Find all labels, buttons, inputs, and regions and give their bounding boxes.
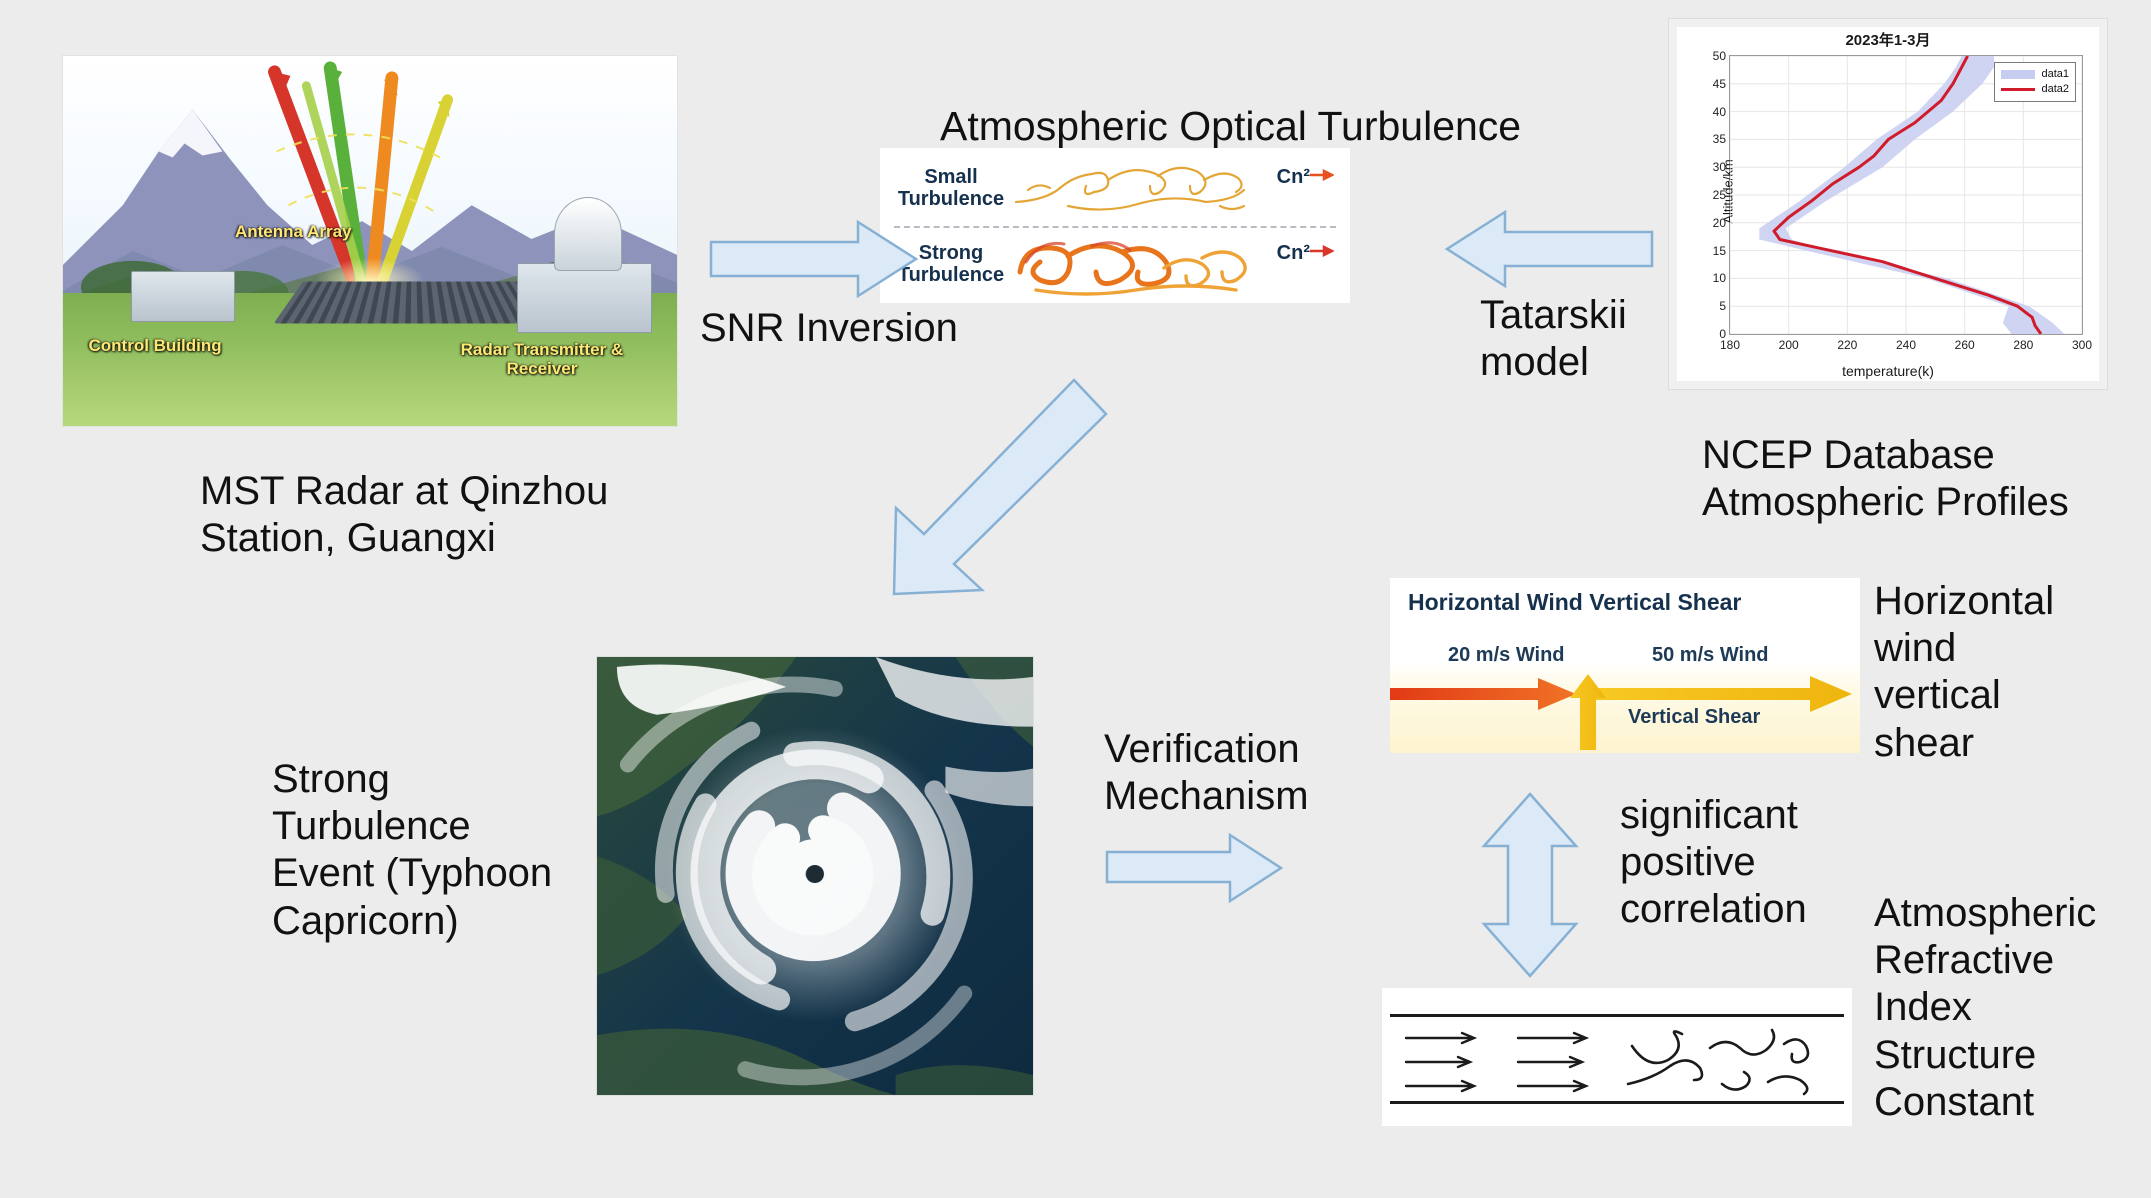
typhoon-caption: Strong Turbulence Event (Typhoon Caprico… xyxy=(272,756,612,945)
x-tick-label: 220 xyxy=(1837,338,1857,352)
typhoon-satellite-image xyxy=(596,656,1034,1096)
flow-top-wall xyxy=(1390,1014,1844,1017)
y-tick-label: 50 xyxy=(1713,49,1726,63)
horizontal-wind-shear-label: Horizontal wind vertical shear xyxy=(1874,578,2151,767)
slide-canvas: Control Building Antenna Array Radar Tra… xyxy=(0,0,2151,1198)
cn2-strong-arrow-icon xyxy=(1310,245,1334,257)
verification-mechanism-label: Verification Mechanism xyxy=(1104,726,1404,820)
wind-low-label: 20 m/s Wind xyxy=(1448,644,1565,667)
chart-title: 2023年1-3月 xyxy=(1677,29,2099,50)
small-turbulence-swirls-icon xyxy=(1008,154,1258,220)
y-tick-label: 15 xyxy=(1713,244,1726,258)
downleft-arrow-icon xyxy=(878,372,1114,604)
strong-turbulence-swirls-icon xyxy=(1006,228,1262,300)
x-tick-label: 300 xyxy=(2072,338,2092,352)
wind-high-label: 50 m/s Wind xyxy=(1652,644,1769,667)
page-title: Atmospheric Optical Turbulence xyxy=(940,102,1640,150)
small-turbulence-label: Small Turbulence xyxy=(896,166,1006,211)
y-tick-label: 40 xyxy=(1713,105,1726,119)
turbulence-comparison-panel: Small Turbulence Cn² Strong Turbulence xyxy=(880,148,1350,303)
small-turbulence-row: Small Turbulence Cn² xyxy=(880,148,1350,226)
laminar-turbulent-flow-panel xyxy=(1382,988,1852,1126)
cn2-small-arrow-icon xyxy=(1310,169,1334,181)
x-tick-label: 200 xyxy=(1779,338,1799,352)
wind-shear-title: Horizontal Wind Vertical Shear xyxy=(1408,589,1741,616)
ncep-caption: NCEP Database Atmospheric Profiles xyxy=(1702,432,2151,526)
radar-transmitter-label: Radar Transmitter & Receiver xyxy=(431,341,652,378)
chart-inner: 2023年1-3月 Altitude/km 051015202530354045… xyxy=(1677,27,2099,381)
legend-item-data2: data2 xyxy=(2001,82,2069,97)
flow-streamlines-icon xyxy=(1392,1022,1842,1102)
x-tick-label: 280 xyxy=(2013,338,2033,352)
legend-label-data2: data2 xyxy=(2041,82,2069,97)
significant-correlation-label: significant positive correlation xyxy=(1620,792,1900,934)
control-building-label: Control Building xyxy=(75,337,235,356)
typhoon-graphic xyxy=(597,657,1033,1095)
legend-item-data1: data1 xyxy=(2001,67,2069,82)
radome-graphic xyxy=(554,197,622,271)
snr-inversion-label: SNR Inversion xyxy=(700,305,1020,352)
transmitter-building-graphic xyxy=(517,263,652,333)
shear-arrows-icon xyxy=(1390,672,1860,752)
legend-swatch-band xyxy=(2001,70,2035,79)
vertical-shear-label: Vertical Shear xyxy=(1628,706,1760,729)
control-building-graphic xyxy=(131,271,235,323)
y-tick-label: 30 xyxy=(1713,160,1726,174)
y-tick-label: 20 xyxy=(1713,216,1726,230)
strong-turbulence-row: Strong Turbulence Cn² xyxy=(880,226,1350,304)
chart-x-axis-label: temperature(k) xyxy=(1677,363,2099,379)
x-tick-label: 260 xyxy=(1955,338,1975,352)
y-tick-label: 10 xyxy=(1713,271,1726,285)
x-tick-label: 180 xyxy=(1720,338,1740,352)
cn2-small-label: Cn² xyxy=(1277,166,1334,189)
double-headed-arrow-icon xyxy=(1476,790,1584,980)
chart-legend: data1 data2 xyxy=(1994,62,2076,102)
cn2-right-label: Atmospheric Refractive Index Structure C… xyxy=(1874,890,2151,1126)
chart-plot-area: Altitude/km 05101520253035404550 1802002… xyxy=(1729,55,2083,335)
cn2-strong-label: Cn² xyxy=(1277,242,1334,265)
mst-radar-illustration: Control Building Antenna Array Radar Tra… xyxy=(62,55,678,427)
legend-label-data1: data1 xyxy=(2041,67,2069,82)
verification-arrow-icon xyxy=(1104,832,1284,904)
ncep-temperature-profile-chart: 2023年1-3月 Altitude/km 051015202530354045… xyxy=(1668,18,2108,390)
y-tick-label: 25 xyxy=(1713,188,1726,202)
x-tick-label: 240 xyxy=(1896,338,1916,352)
y-tick-label: 35 xyxy=(1713,132,1726,146)
antenna-array-graphic xyxy=(274,282,552,324)
y-tick-label: 45 xyxy=(1713,77,1726,91)
snr-inversion-arrow-icon xyxy=(708,218,920,300)
legend-swatch-line xyxy=(2001,88,2035,91)
radar-caption: MST Radar at Qinzhou Station, Guangxi xyxy=(200,468,700,562)
wind-shear-panel: Horizontal Wind Vertical Shear 20 m/s Wi… xyxy=(1390,578,1860,753)
antenna-array-label: Antenna Array xyxy=(217,223,371,242)
y-tick-label: 5 xyxy=(1719,299,1726,313)
tatarskii-arrow-icon xyxy=(1443,208,1655,290)
